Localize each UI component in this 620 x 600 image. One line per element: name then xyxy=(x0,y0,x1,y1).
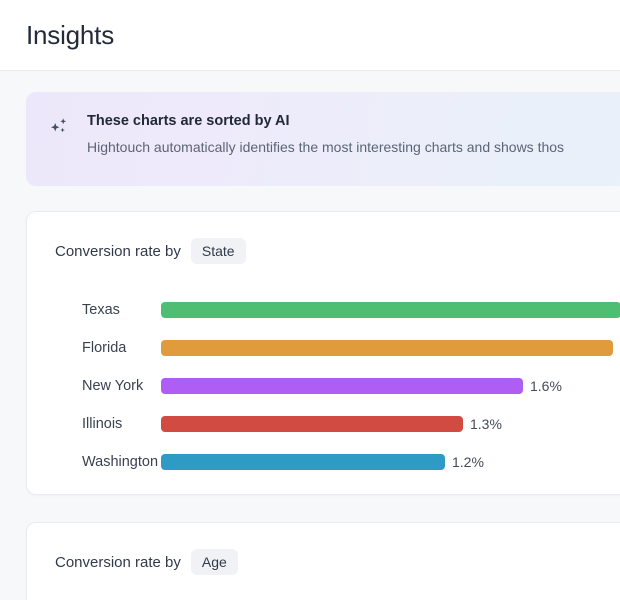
chart-card-state[interactable]: Conversion rate by State Texas Florida xyxy=(26,211,620,495)
bar-label: Illinois xyxy=(27,417,161,432)
bar-row[interactable]: Texas xyxy=(27,291,620,329)
bar-fill-illinois[interactable] xyxy=(161,416,463,432)
bar-row[interactable]: Washington 1.2% xyxy=(27,443,620,481)
bar-track xyxy=(161,302,620,318)
dimension-badge-age[interactable]: Age xyxy=(191,549,238,575)
bar-fill-texas[interactable] xyxy=(161,302,620,318)
ai-banner-title: These charts are sorted by AI xyxy=(87,112,620,132)
bar-row[interactable]: New York 1.6% xyxy=(27,367,620,405)
bar-value: 1.2% xyxy=(452,455,484,469)
dimension-badge-state[interactable]: State xyxy=(191,238,246,264)
bar-row[interactable]: Florida xyxy=(27,329,620,367)
insights-page: Insights These charts are sorted by AI H… xyxy=(0,0,620,600)
bar-row[interactable]: Illinois 1.3% xyxy=(27,405,620,443)
bar-label: Texas xyxy=(27,303,161,318)
bar-fill-new-york[interactable] xyxy=(161,378,523,394)
bar-track: 1.2% xyxy=(161,454,620,470)
bar-chart-state: Texas Florida New York xyxy=(27,264,620,481)
page-title: Insights xyxy=(26,22,114,48)
bar-fill-florida[interactable] xyxy=(161,340,613,356)
ai-banner-text: These charts are sorted by AI Hightouch … xyxy=(87,112,620,157)
bar-track: 1.6% xyxy=(161,378,620,394)
chart-card-age[interactable]: Conversion rate by Age xyxy=(26,522,620,600)
bar-value: 1.3% xyxy=(470,417,502,431)
bar-label: New York xyxy=(27,379,161,394)
chart-card-state-header: Conversion rate by State xyxy=(27,212,620,264)
page-header: Insights xyxy=(0,0,620,71)
bar-value: 1.6% xyxy=(530,379,562,393)
content-area: These charts are sorted by AI Hightouch … xyxy=(0,71,620,600)
bar-track: 1.3% xyxy=(161,416,620,432)
ai-banner-description: Hightouch automatically identifies the m… xyxy=(87,137,620,157)
bar-label: Florida xyxy=(27,341,161,356)
bar-label: Washington xyxy=(27,455,161,470)
chart-card-age-header: Conversion rate by Age xyxy=(27,523,620,575)
chart-title-prefix: Conversion rate by xyxy=(55,244,181,259)
bar-track xyxy=(161,340,620,356)
chart-title-prefix: Conversion rate by xyxy=(55,555,181,570)
ai-sorted-banner: These charts are sorted by AI Hightouch … xyxy=(26,92,620,186)
bar-fill-washington[interactable] xyxy=(161,454,445,470)
sparkles-icon xyxy=(48,116,70,138)
